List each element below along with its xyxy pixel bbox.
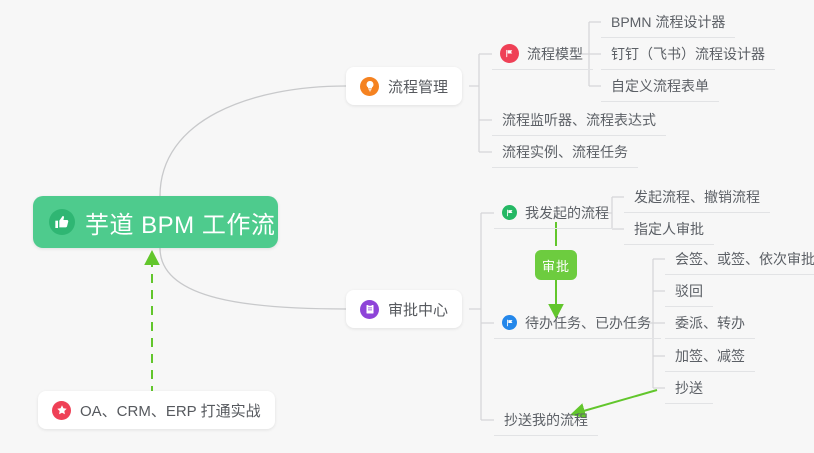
node-carbon-copy[interactable]: 抄送 (665, 372, 713, 404)
flag-icon (500, 44, 519, 63)
node-label: BPMN 流程设计器 (611, 12, 725, 32)
node-reject[interactable]: 驳回 (665, 275, 713, 307)
branch-label: 流程管理 (388, 76, 448, 97)
node-label: 钉钉（飞书）流程设计器 (611, 44, 765, 64)
branch-process-management[interactable]: 流程管理 (346, 67, 462, 105)
node-instance-task[interactable]: 流程实例、流程任务 (492, 136, 638, 168)
flag-icon (502, 205, 517, 220)
mindmap-canvas: 芋道 BPM 工作流 流程管理 流程模型 BPMN 流程设计器 钉钉（飞书）流程… (0, 0, 814, 453)
node-cc-to-me-processes[interactable]: 抄送我的流程 (494, 404, 598, 436)
node-delegate-transfer[interactable]: 委派、转办 (665, 307, 755, 339)
node-add-remove-sign[interactable]: 加签、减签 (665, 340, 755, 372)
node-label: 流程实例、流程任务 (502, 142, 628, 162)
branch-label: 审批中心 (388, 299, 448, 320)
node-label: 会签、或签、依次审批 (675, 249, 814, 269)
node-assignee-approval[interactable]: 指定人审批 (624, 213, 714, 245)
node-todo-done-tasks[interactable]: 待办任务、已办任务 (494, 307, 661, 339)
root-label: 芋道 BPM 工作流 (85, 205, 275, 240)
node-label: 自定义流程表单 (611, 76, 709, 96)
node-countersign[interactable]: 会签、或签、依次审批 (665, 243, 814, 275)
node-custom-form[interactable]: 自定义流程表单 (601, 70, 719, 102)
bottom-note-card[interactable]: OA、CRM、ERP 打通实战 (38, 391, 275, 429)
node-label: 抄送我的流程 (504, 410, 588, 430)
node-label: 驳回 (675, 281, 703, 301)
flag-icon (502, 315, 517, 330)
node-label: 发起流程、撤销流程 (634, 187, 760, 207)
branch-approval-center[interactable]: 审批中心 (346, 290, 462, 328)
root-node[interactable]: 芋道 BPM 工作流 (33, 196, 278, 248)
node-start-cancel-process[interactable]: 发起流程、撤销流程 (624, 181, 770, 213)
node-label: 委派、转办 (675, 313, 745, 333)
thumbs-up-icon (49, 209, 75, 235)
node-label: 抄送 (675, 378, 703, 398)
node-bpmn-designer[interactable]: BPMN 流程设计器 (601, 6, 735, 38)
node-dingtalk-feishu-designer[interactable]: 钉钉（飞书）流程设计器 (601, 38, 775, 70)
node-label: 加签、减签 (675, 346, 745, 366)
node-my-started-processes[interactable]: 我发起的流程 (494, 197, 619, 229)
node-label: 我发起的流程 (525, 203, 609, 223)
clipboard-icon (360, 300, 379, 319)
lightbulb-icon (360, 77, 379, 96)
node-label: 指定人审批 (634, 219, 704, 239)
node-label: 流程监听器、流程表达式 (502, 110, 656, 130)
approval-annotation-label: 审批 (542, 256, 570, 275)
star-icon (52, 401, 71, 420)
node-listener-expression[interactable]: 流程监听器、流程表达式 (492, 104, 666, 136)
node-process-model[interactable]: 流程模型 (492, 38, 593, 70)
node-label: 流程模型 (527, 44, 583, 64)
bottom-note-label: OA、CRM、ERP 打通实战 (80, 400, 261, 421)
node-label: 待办任务、已办任务 (525, 313, 651, 333)
approval-annotation-badge: 审批 (535, 250, 577, 280)
